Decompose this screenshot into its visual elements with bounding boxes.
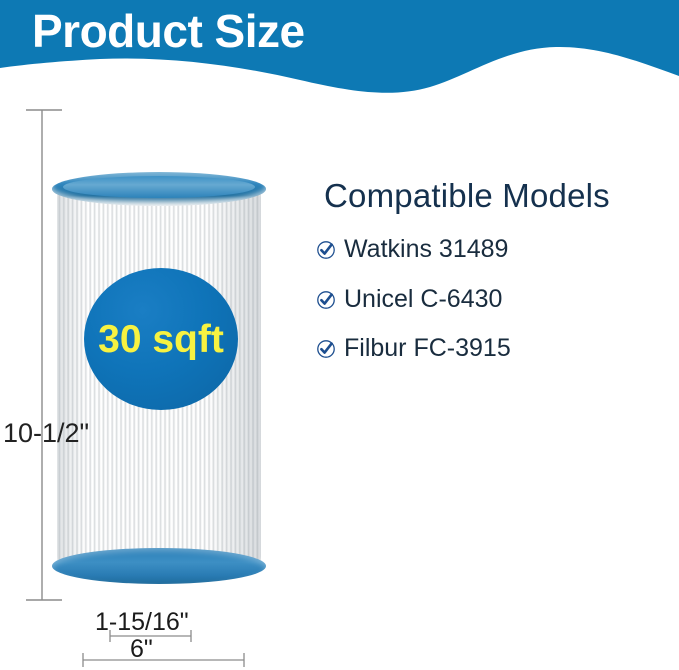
product-size-infographic: Product Size 30 sqft 10-1/2" 1-15/16" 6" [0, 0, 679, 670]
height-dimension-label: 10-1/2" [3, 418, 89, 449]
height-dimension-line [0, 100, 120, 620]
width-dimension-lines [60, 608, 320, 670]
check-circle-icon [316, 290, 336, 310]
compatible-model-label: Unicel C-6430 [344, 286, 502, 314]
header-banner: Product Size [0, 0, 679, 100]
compatible-models-panel: Compatible Models Watkins 31489 Unicel C… [316, 178, 666, 363]
compatible-model-label: Filbur FC-3915 [344, 335, 511, 363]
compatible-model-item-0: Watkins 31489 [316, 236, 666, 264]
page-title: Product Size [32, 6, 305, 57]
compatible-model-item-1: Unicel C-6430 [316, 286, 666, 314]
check-circle-icon [316, 339, 336, 359]
check-circle-icon [316, 240, 336, 260]
width-dimension-group: 1-15/16" 6" [60, 608, 320, 670]
compatible-models-heading: Compatible Models [324, 178, 666, 214]
compatible-model-item-2: Filbur FC-3915 [316, 335, 666, 363]
compatible-model-label: Watkins 31489 [344, 236, 508, 264]
